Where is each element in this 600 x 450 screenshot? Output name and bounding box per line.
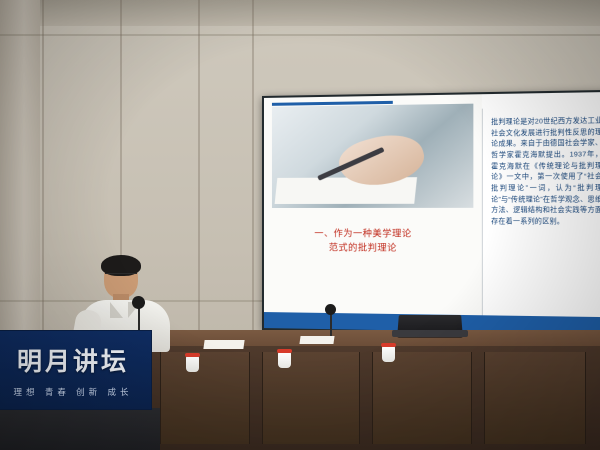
paper-cup (382, 346, 395, 362)
microphone-icon (325, 304, 336, 315)
microphone-stand (330, 312, 332, 336)
wall-seam (42, 0, 44, 340)
paper-cup-lid (381, 343, 396, 347)
wall-seam (252, 0, 254, 340)
slide-photo (272, 104, 473, 209)
slide-divider (482, 108, 483, 317)
desk-panel (372, 352, 472, 444)
slide-body-text: 批判理论是对20世纪西方发达工业社会文化发展进行批判性反思的理论成果。来自于由德… (491, 116, 600, 228)
desk-panel (160, 352, 250, 444)
glasses-icon (105, 273, 137, 281)
wall-pillar (0, 0, 40, 330)
ceiling-band (0, 0, 600, 26)
wall-seam-horizontal (0, 34, 600, 36)
banner-title: 明月讲坛 (17, 342, 129, 378)
banner-subtitle: 理想 青春 创新 成长 (13, 386, 132, 398)
event-banner: 明月讲坛 理想 青春 创新 成长 (0, 330, 152, 410)
paper-cup-lid (185, 353, 200, 357)
presentation-display: 一、作为一种美学理论 范式的批判理论 批判理论是对20世纪西方发达工业社会文化发… (262, 90, 600, 336)
slide-title: 一、作为一种美学理论 范式的批判理论 (283, 227, 444, 256)
paper-cup (278, 352, 291, 368)
document-sheet (299, 336, 334, 344)
desk-panel (484, 352, 586, 444)
document-sheet (203, 340, 244, 349)
wall-seam (198, 0, 200, 340)
paper-cup-lid (277, 349, 292, 353)
laptop-base (392, 330, 468, 337)
photo-paper (275, 177, 417, 204)
slide-title-line-2: 范式的批判理论 (283, 241, 444, 256)
paper-cup (186, 356, 199, 372)
slide-left-column: 一、作为一种美学理论 范式的批判理论 (264, 94, 482, 332)
slide: 一、作为一种美学理论 范式的批判理论 批判理论是对20世纪西方发达工业社会文化发… (264, 92, 600, 334)
slide-title-line-1: 一、作为一种美学理论 (283, 227, 444, 242)
shirt-collar-left (110, 302, 123, 318)
photo-scene: 一、作为一种美学理论 范式的批判理论 批判理论是对20世纪西方发达工业社会文化发… (0, 0, 600, 450)
desk-panel (262, 352, 360, 444)
floor-area (0, 408, 160, 450)
